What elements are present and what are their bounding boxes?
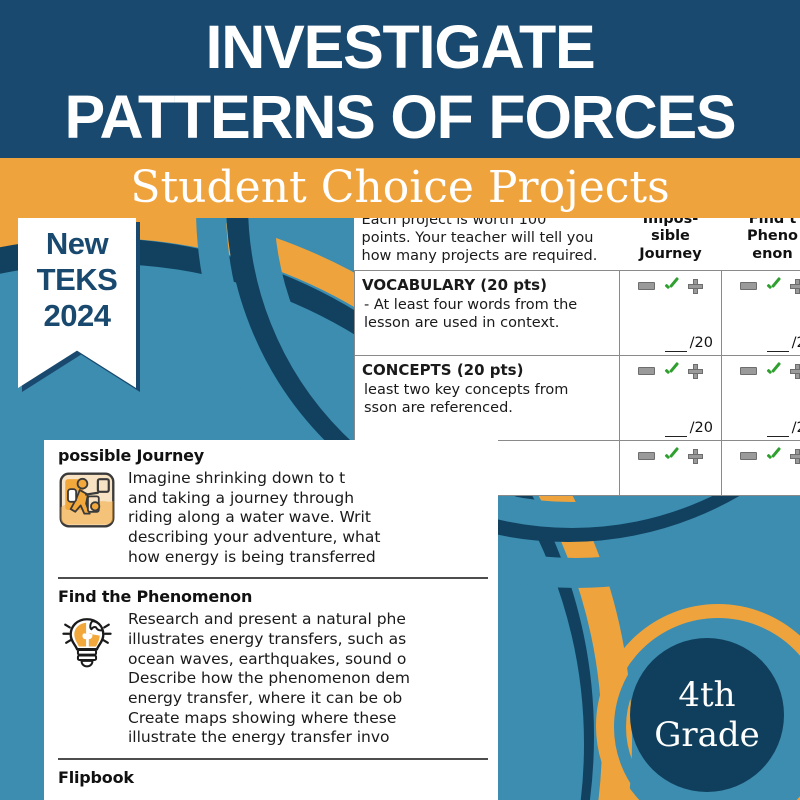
plus-icon[interactable]: [790, 279, 800, 294]
rubric-criterion-vocabulary: VOCABULARY (20 pts) - At least four word…: [355, 271, 620, 356]
puzzle-lightbulb-icon: [58, 612, 116, 670]
check-icon[interactable]: [766, 279, 781, 294]
page-title-line1: INVESTIGATE: [0, 0, 800, 82]
score-label: /20: [792, 335, 800, 351]
plus-icon[interactable]: [688, 449, 703, 464]
minus-icon[interactable]: [740, 452, 757, 460]
project-body: Imagine shrinking down to t and taking a…: [128, 469, 385, 567]
plus-icon[interactable]: [790, 449, 800, 464]
project-flipbook: Flipbook: [58, 758, 488, 795]
title-band: INVESTIGATE PATTERNS OF FORCES: [0, 0, 800, 158]
minus-icon[interactable]: [638, 452, 655, 460]
plus-icon[interactable]: [688, 364, 703, 379]
grade-number: 4th: [654, 675, 760, 715]
plus-icon[interactable]: [790, 364, 800, 379]
score-label: /20: [792, 420, 800, 436]
ribbon-line-teks: TEKS: [18, 262, 136, 298]
rubric-intro-line3: how many projects are required.: [362, 247, 613, 265]
project-find-the-phenomenon: Find the Phenomenon Research and present…: [58, 577, 488, 752]
score-blank[interactable]: [665, 420, 687, 437]
criterion-title: VOCABULARY (20 pts): [362, 276, 547, 294]
score-label: /20: [690, 420, 713, 436]
score-cell-impossible-journey[interactable]: /20: [620, 356, 722, 441]
grade-label: Grade: [654, 715, 760, 755]
score-cell-find-the-phenomenon[interactable]: /20: [722, 271, 800, 356]
check-icon[interactable]: [664, 279, 679, 294]
minus-icon[interactable]: [740, 282, 757, 290]
criterion-desc-line1: - At least four words from the: [364, 296, 612, 314]
project-title: possible Journey: [58, 446, 488, 465]
check-icon[interactable]: [766, 364, 781, 379]
score-blank[interactable]: [767, 335, 789, 352]
page-subtitle: Student Choice Projects: [0, 158, 800, 218]
minus-icon[interactable]: [638, 367, 655, 375]
plus-icon[interactable]: [688, 279, 703, 294]
criterion-desc-line1: least two key concepts from: [364, 381, 612, 399]
rubric-row-vocabulary: VOCABULARY (20 pts) - At least four word…: [355, 271, 800, 356]
project-impossible-journey: possible Journey Imagine shrinking down …: [58, 446, 488, 571]
project-body: Research and present a natural phe illus…: [128, 610, 410, 748]
grade-badge: 4th Grade: [630, 638, 784, 792]
score-cell-find-the-phenomenon[interactable]: [722, 441, 800, 496]
score-cell-impossible-journey[interactable]: /20: [620, 271, 722, 356]
rubric-row-concepts: CONCEPTS (20 pts) least two key concepts…: [355, 356, 800, 441]
page-title-line2: PATTERNS OF FORCES: [0, 82, 800, 152]
new-teks-ribbon: New TEKS 2024: [18, 218, 136, 388]
criterion-desc-line2: lesson are used in context.: [364, 314, 612, 332]
rubric-criterion-concepts: CONCEPTS (20 pts) least two key concepts…: [355, 356, 620, 441]
check-icon[interactable]: [664, 449, 679, 464]
project-title: Find the Phenomenon: [58, 587, 488, 606]
score-blank[interactable]: [665, 335, 687, 352]
hiker-explorer-icon: [58, 471, 116, 529]
score-cell-impossible-journey[interactable]: [620, 441, 722, 496]
criterion-title: CONCEPTS (20 pts): [362, 361, 523, 379]
score-cell-find-the-phenomenon[interactable]: /20: [722, 356, 800, 441]
score-label: /20: [690, 335, 713, 351]
project-list-card: possible Journey Imagine shrinking down …: [44, 440, 498, 800]
product-cover: Each project is worth 100 points. Your t…: [0, 0, 800, 800]
check-icon[interactable]: [766, 449, 781, 464]
minus-icon[interactable]: [740, 367, 757, 375]
subtitle-band: Student Choice Projects: [0, 158, 800, 218]
criterion-desc-line2: sson are referenced.: [364, 399, 612, 417]
minus-icon[interactable]: [638, 282, 655, 290]
ribbon-line-year: 2024: [18, 298, 136, 334]
rubric-intro-line2: points. Your teacher will tell you: [362, 229, 613, 247]
project-title: Flipbook: [58, 768, 488, 787]
ribbon-line-new: New: [18, 226, 136, 262]
check-icon[interactable]: [664, 364, 679, 379]
score-blank[interactable]: [767, 420, 789, 437]
